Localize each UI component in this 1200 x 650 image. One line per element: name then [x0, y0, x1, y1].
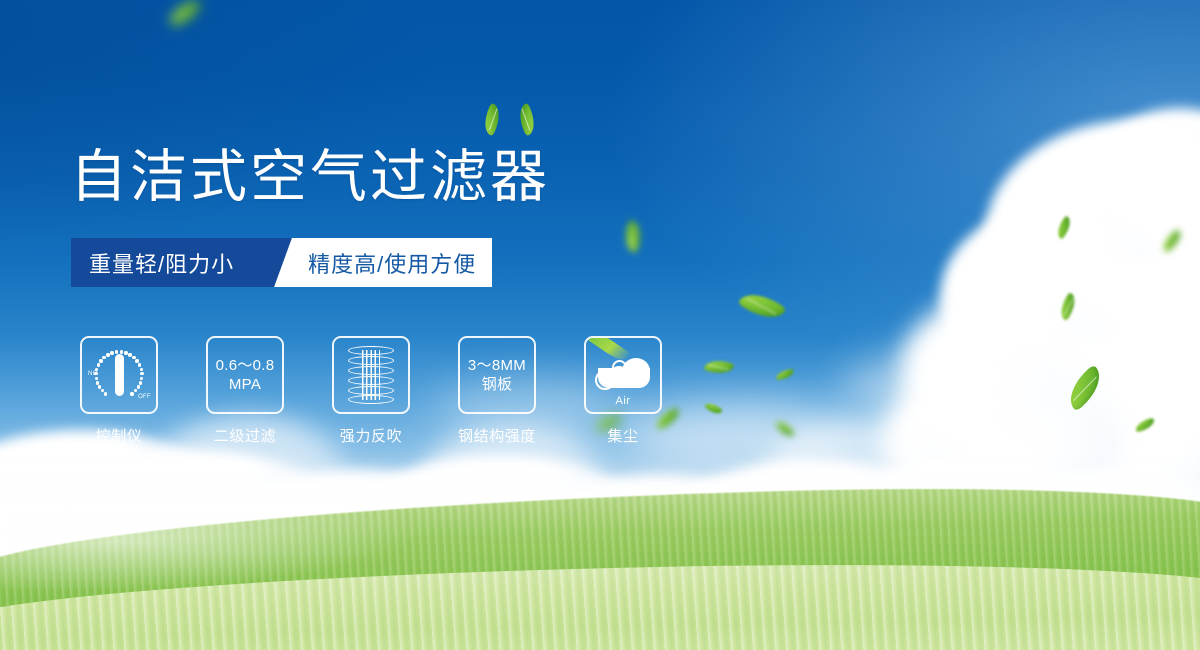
coil-ring — [348, 376, 394, 385]
dial-gauge-icon: NO OFF — [89, 345, 149, 405]
dial-tick-dot — [140, 377, 143, 380]
dial-tick-dot — [96, 381, 99, 384]
dial-tick-dot — [106, 353, 109, 356]
subtitle-right-panel: 精度高/使用方便 — [272, 238, 492, 287]
steel-value-line2: 钢板 — [482, 375, 513, 394]
steel-value-line1: 3～8MM — [468, 356, 526, 375]
dial-tick-dot — [97, 363, 100, 366]
feature-icon-box: Air — [584, 336, 662, 414]
dial-tick-dot — [120, 350, 123, 353]
feature-list: NO OFF 控制仪 0.6～0.8 MPA 二级过滤 — [80, 336, 662, 446]
coil-ring — [348, 346, 394, 355]
dial-tick-dot — [104, 392, 107, 395]
dial-tick-dot — [99, 359, 102, 362]
coil-ring — [348, 395, 394, 404]
feature-item-back-blow[interactable]: 强力反吹 — [332, 336, 410, 446]
feature-item-controller[interactable]: NO OFF 控制仪 — [80, 336, 158, 446]
feature-icon-box: 0.6～0.8 MPA — [206, 336, 284, 414]
dial-tick-dot — [138, 363, 141, 366]
pressure-value-line1: 0.6～0.8 — [216, 356, 275, 375]
feature-icon-box: 3～8MM 钢板 — [458, 336, 536, 414]
dial-tick-dot — [135, 359, 138, 362]
feature-label: 二级过滤 — [206, 425, 284, 446]
dial-needle — [115, 354, 124, 396]
product-hero-banner: 自洁式空气过滤器 重量轻/阻力小 精度高/使用方便 NO OFF 控制仪 0.6… — [0, 0, 1200, 650]
leaf-streak-icon — [588, 336, 630, 364]
coil-stack-icon — [348, 346, 394, 404]
cloud-air-icon: Air — [592, 346, 654, 404]
dial-tick-dot — [95, 377, 98, 380]
dial-tick-dot — [134, 389, 137, 392]
dial-tick-dot — [124, 351, 127, 354]
coil-ring — [348, 386, 394, 395]
feature-item-two-stage-filter[interactable]: 0.6～0.8 MPA 二级过滤 — [206, 336, 284, 446]
feature-label: 集尘 — [584, 425, 662, 446]
feature-item-steel-strength[interactable]: 3～8MM 钢板 钢结构强度 — [458, 336, 536, 446]
dial-tick-dot — [137, 385, 140, 388]
page-title: 自洁式空气过滤器 — [70, 142, 550, 212]
feature-icon-box: NO OFF — [80, 336, 158, 414]
feature-icon-box — [332, 336, 410, 414]
dial-tick-dot — [139, 381, 142, 384]
dial-label-off: OFF — [138, 394, 151, 400]
feature-label: 控制仪 — [80, 425, 158, 446]
air-label: Air — [592, 395, 654, 407]
feature-label: 强力反吹 — [332, 425, 410, 446]
dial-tick-dot — [110, 351, 113, 354]
dial-tick-dot — [98, 385, 101, 388]
pressure-value-line2: MPA — [229, 375, 261, 394]
coil-ring — [348, 366, 394, 375]
dial-tick-dot — [102, 356, 105, 359]
feature-item-dust-collection[interactable]: Air 集尘 — [584, 336, 662, 446]
dial-tick-dot — [140, 368, 143, 371]
feature-label: 钢结构强度 — [458, 425, 536, 446]
cloud-ring-tiny — [612, 360, 627, 375]
dial-tick-dot — [130, 392, 133, 395]
subtitle-bar: 重量轻/阻力小 精度高/使用方便 — [71, 238, 492, 287]
coil-ring — [348, 356, 394, 365]
cloud-ring-small — [595, 370, 615, 390]
dial-tick-dot — [140, 372, 143, 375]
subtitle-left-panel: 重量轻/阻力小 — [71, 238, 266, 287]
